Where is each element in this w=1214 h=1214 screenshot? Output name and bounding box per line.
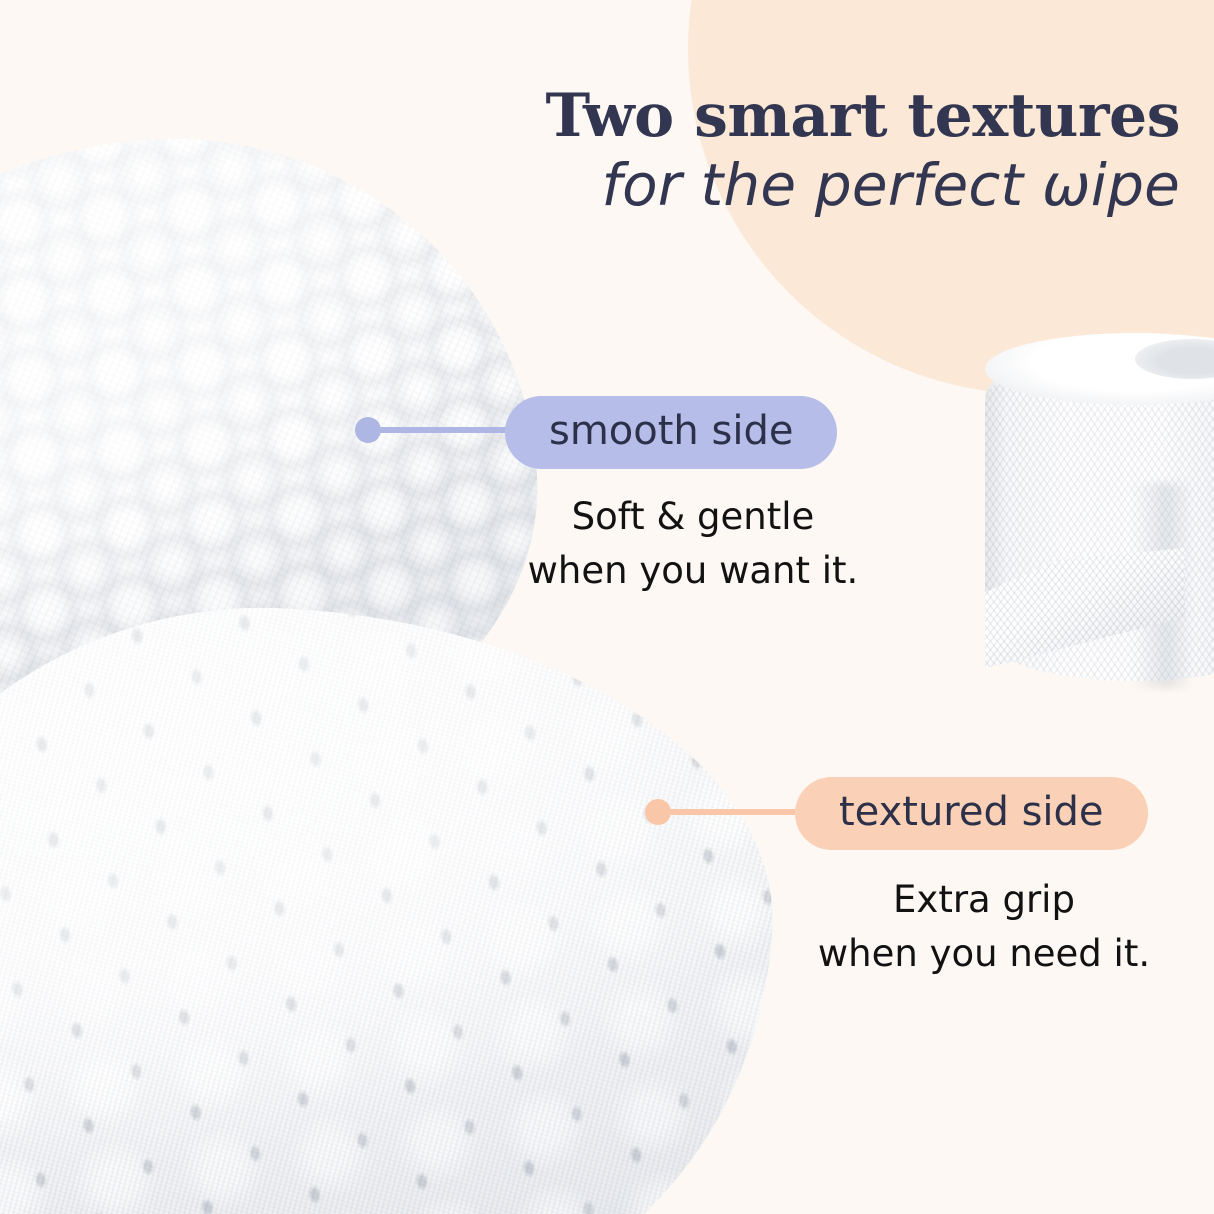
swatch-shading-layer [0,586,788,1214]
textured-leader-line [657,809,804,815]
status-badge-textured-side: textured side [795,777,1148,850]
headline-line-2: for the perfect ωipe [0,146,1180,224]
toilet-paper-roll-photo [985,333,1214,693]
textured-paper-texture-swatch [0,586,788,1214]
smooth-leader-line [367,427,512,433]
status-badge-smooth-side: smooth side [505,396,837,469]
smooth-side-description: Soft & gentle when you want it. [498,490,888,597]
textured-side-description: Extra grip when you need it. [789,873,1179,980]
callout-textured-side: textured side Extra grip when you need i… [795,777,1148,850]
page-title: Two smart textures for the perfect ωipe [0,86,1180,224]
headline-line-1: Two smart textures [0,86,1180,146]
callout-smooth-side: smooth side Soft & gentle when you want … [505,396,837,469]
infographic-canvas: Two smart textures for the perfect ωipe … [0,0,1214,1214]
smooth-side-description-wrap: Soft & gentle when you want it. [498,490,888,597]
textured-side-description-wrap: Extra grip when you need it. [789,873,1179,980]
